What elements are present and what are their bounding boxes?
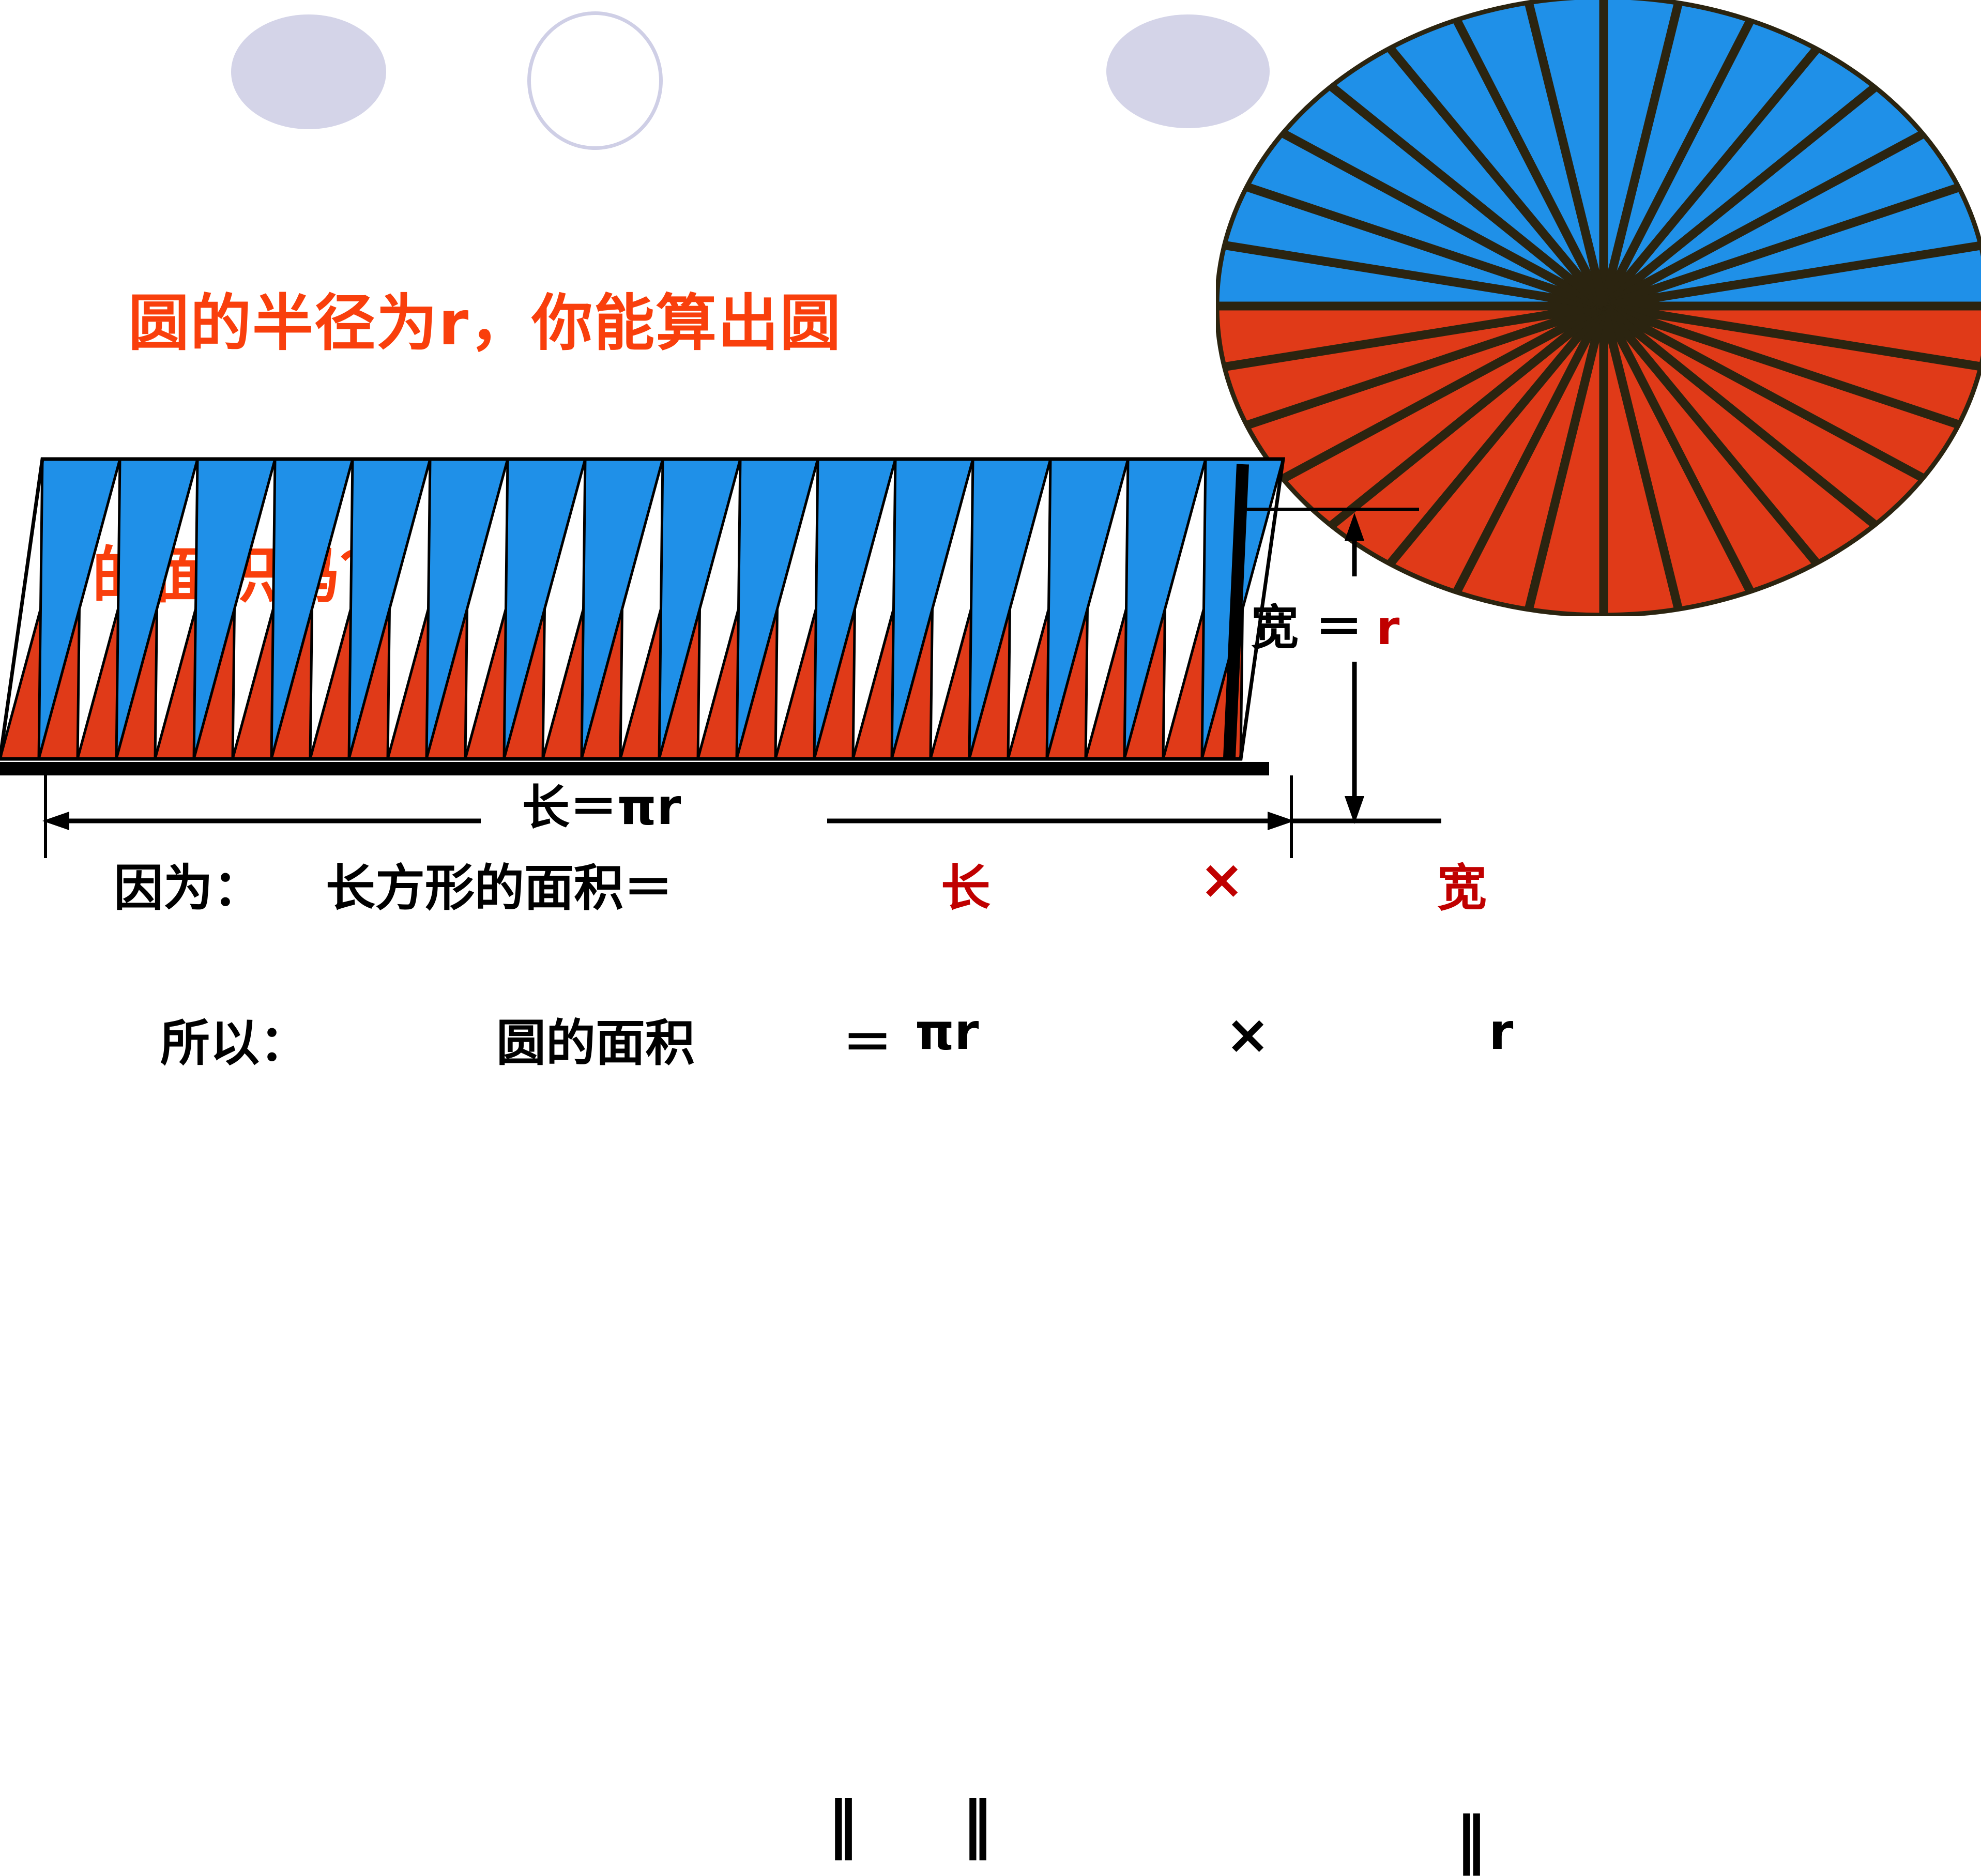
width-dimension-label: 宽 ＝r bbox=[1251, 589, 1399, 658]
pi-r-term: πr bbox=[915, 1003, 979, 1061]
radius-term: r bbox=[1489, 1003, 1513, 1061]
multiply-operator-row2: × bbox=[1225, 1003, 1270, 1066]
decorative-ellipse-filled-left bbox=[231, 14, 386, 129]
width-term: 宽 bbox=[1437, 848, 1487, 920]
multiply-operator-row1: × bbox=[1199, 848, 1244, 911]
length-arrowhead-left-icon bbox=[42, 812, 69, 830]
equals-sign-row2: ＝ bbox=[843, 1003, 892, 1075]
length-term: 长 bbox=[941, 848, 990, 920]
parallel-connector-under-equals: ‖ bbox=[827, 1794, 855, 1856]
circle-area-expression: 圆的面积 bbox=[496, 1003, 695, 1075]
rectangle-area-expression: 长方形的面积＝ bbox=[326, 848, 673, 920]
width-dimension-label-value: r bbox=[1363, 600, 1399, 655]
width-arrowhead-down-icon bbox=[1345, 796, 1364, 824]
length-dimension-label-text: 长＝ bbox=[522, 780, 617, 835]
triangle-group bbox=[0, 459, 1283, 759]
area-derivation-block: 因为： 长方形的面积＝ 长 × 宽 所以： 圆的面积 ＝ πr × r ‖ ‖ … bbox=[0, 848, 1981, 1117]
therefore-label: 所以： bbox=[160, 1003, 309, 1075]
derivation-row-rectangle: 因为： 长方形的面积＝ 长 × 宽 bbox=[0, 848, 1981, 925]
length-dimension-label-value: πr bbox=[617, 778, 681, 836]
circle-svg bbox=[1216, 0, 1981, 616]
sector-divided-circle bbox=[1216, 0, 1981, 616]
derivation-row-circle: 所以： 圆的面积 ＝ πr × r bbox=[0, 1003, 1981, 1080]
parallel-connector-under-width: ‖ bbox=[1455, 1809, 1483, 1871]
length-arrowhead-right-icon bbox=[1268, 812, 1294, 830]
title-line-1: 圆的半径为r，你能算出圆 bbox=[92, 281, 1219, 365]
parallel-connector-under-length: ‖ bbox=[962, 1794, 989, 1856]
width-dimension-label-text: 宽 ＝ bbox=[1251, 600, 1363, 655]
interlocked-triangle-parallelogram bbox=[0, 455, 1323, 786]
triangle-strip-svg bbox=[0, 455, 1323, 786]
length-dimension-label: 长＝πr bbox=[522, 769, 681, 838]
because-label: 因为： bbox=[114, 848, 263, 920]
